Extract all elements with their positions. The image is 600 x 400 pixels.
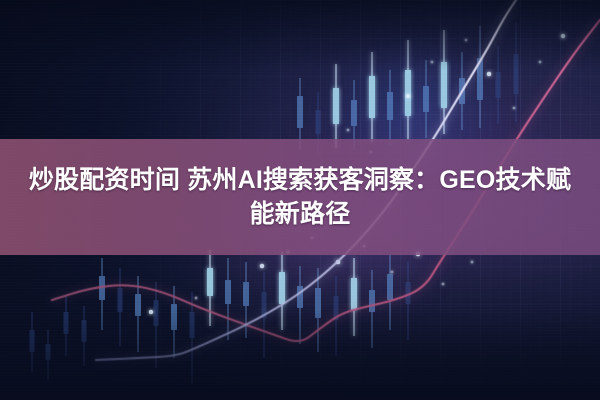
title-line-2: 能新路径 [8,197,592,231]
top-vignette [0,0,600,70]
title-banner-band: 炒股配资时间 苏州AI搜索获客洞察：GEO技术赋 能新路径 [0,139,600,255]
bottom-vignette [0,310,600,400]
title-line-1: 炒股配资时间 苏州AI搜索获客洞察：GEO技术赋 [8,163,592,197]
banner-canvas: 炒股配资时间 苏州AI搜索获客洞察：GEO技术赋 能新路径 [0,0,600,400]
